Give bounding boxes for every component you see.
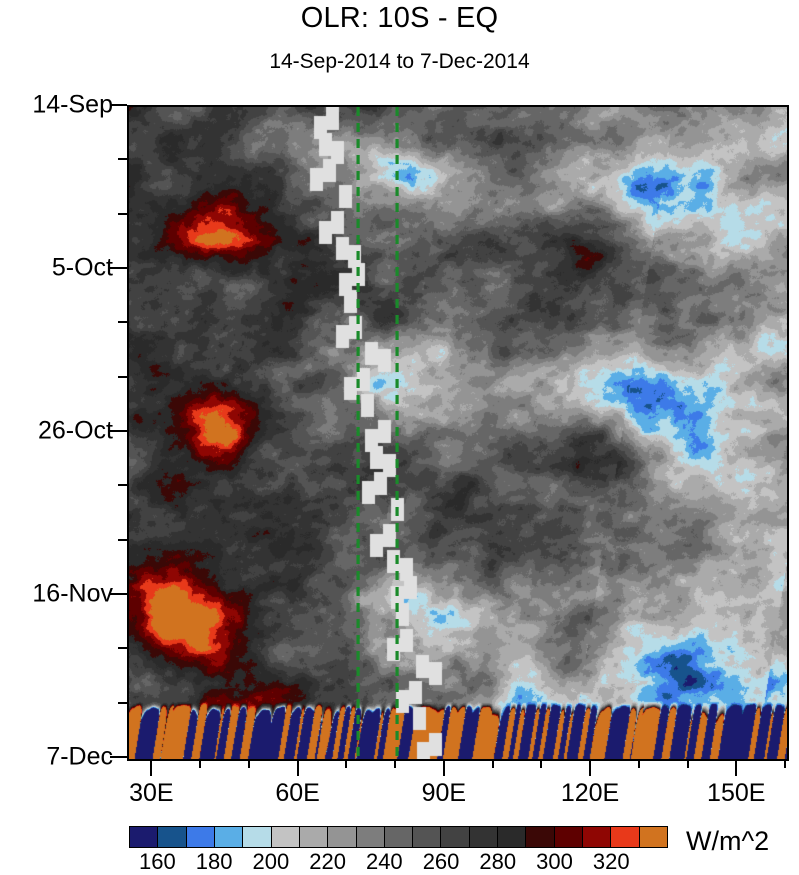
y-axis-major-tick xyxy=(110,756,127,758)
y-axis-minor-tick xyxy=(118,376,127,378)
colorbar-units-label: W/m^2 xyxy=(686,826,769,857)
page-title: OLR: 10S - EQ xyxy=(0,2,799,35)
x-axis-minor-tick xyxy=(248,759,250,768)
colorbar-tick-label: 300 xyxy=(536,849,573,875)
x-axis-major-tick xyxy=(735,759,737,776)
y-axis-major-tick xyxy=(110,267,127,269)
colorbar-swatch[interactable] xyxy=(441,827,469,847)
x-axis-minor-tick xyxy=(345,759,347,768)
y-axis-minor-tick xyxy=(118,321,127,323)
x-axis-label: 60E xyxy=(275,779,319,808)
y-axis-label: 5-Oct xyxy=(52,254,113,283)
colorbar-tick-label: 180 xyxy=(196,849,233,875)
y-axis-label: 26-Oct xyxy=(38,417,113,446)
y-axis-minor-tick xyxy=(118,158,127,160)
colorbar-swatch[interactable] xyxy=(470,827,498,847)
colorbar-swatch[interactable] xyxy=(640,827,667,847)
x-axis-label: 90E xyxy=(422,779,466,808)
colorbar-swatch[interactable] xyxy=(413,827,441,847)
colorbar-tick-label: 200 xyxy=(252,849,289,875)
x-axis-major-tick xyxy=(150,759,152,776)
x-axis-label: 150E xyxy=(707,779,765,808)
y-axis-major-tick xyxy=(110,430,127,432)
colorbar-swatch[interactable] xyxy=(385,827,413,847)
colorbar-swatch[interactable] xyxy=(498,827,526,847)
x-axis-major-tick xyxy=(443,759,445,776)
y-axis-label: 7-Dec xyxy=(46,743,113,772)
colorbar-swatch[interactable] xyxy=(526,827,554,847)
y-axis-minor-tick xyxy=(118,647,127,649)
colorbar-swatch[interactable] xyxy=(555,827,583,847)
colorbar-swatch[interactable] xyxy=(130,827,158,847)
colorbar-tick-label: 160 xyxy=(139,849,176,875)
x-axis-major-tick xyxy=(297,759,299,776)
x-axis-minor-tick xyxy=(784,759,786,768)
y-axis-major-tick xyxy=(110,593,127,595)
colorbar-swatch[interactable] xyxy=(583,827,611,847)
y-axis-minor-tick xyxy=(118,213,127,215)
colorbar-swatch[interactable] xyxy=(328,827,356,847)
colorbar-swatch[interactable] xyxy=(357,827,385,847)
colorbar-swatch[interactable] xyxy=(243,827,271,847)
y-axis-minor-tick xyxy=(118,539,127,541)
y-axis-minor-tick xyxy=(118,484,127,486)
x-axis-label: 30E xyxy=(129,779,173,808)
y-axis-major-tick xyxy=(110,104,127,106)
x-axis-label: 120E xyxy=(561,779,619,808)
colorbar-swatch[interactable] xyxy=(272,827,300,847)
colorbar-tick-label: 260 xyxy=(423,849,460,875)
page-subtitle: 14-Sep-2014 to 7-Dec-2014 xyxy=(0,50,799,74)
hovmoller-plot-area xyxy=(127,105,789,761)
x-axis-minor-tick xyxy=(394,759,396,768)
colorbar-tick-label: 240 xyxy=(366,849,403,875)
colorbar-swatch[interactable] xyxy=(611,827,639,847)
colorbar[interactable] xyxy=(129,826,668,848)
colorbar-swatch[interactable] xyxy=(158,827,186,847)
x-axis-major-tick xyxy=(589,759,591,776)
colorbar-tick-label: 320 xyxy=(593,849,630,875)
colorbar-tick-label: 220 xyxy=(309,849,346,875)
colorbar-tick-label: 280 xyxy=(479,849,516,875)
colorbar-swatch[interactable] xyxy=(300,827,328,847)
y-axis-minor-tick xyxy=(118,702,127,704)
x-axis-minor-tick xyxy=(199,759,201,768)
colorbar-swatch[interactable] xyxy=(215,827,243,847)
x-axis-minor-tick xyxy=(687,759,689,768)
colorbar-swatch[interactable] xyxy=(187,827,215,847)
y-axis-label: 16-Nov xyxy=(32,580,113,609)
x-axis-minor-tick xyxy=(638,759,640,768)
x-axis-minor-tick xyxy=(492,759,494,768)
x-axis-minor-tick xyxy=(540,759,542,768)
y-axis-label: 14-Sep xyxy=(32,91,113,120)
reference-lines xyxy=(129,107,787,759)
